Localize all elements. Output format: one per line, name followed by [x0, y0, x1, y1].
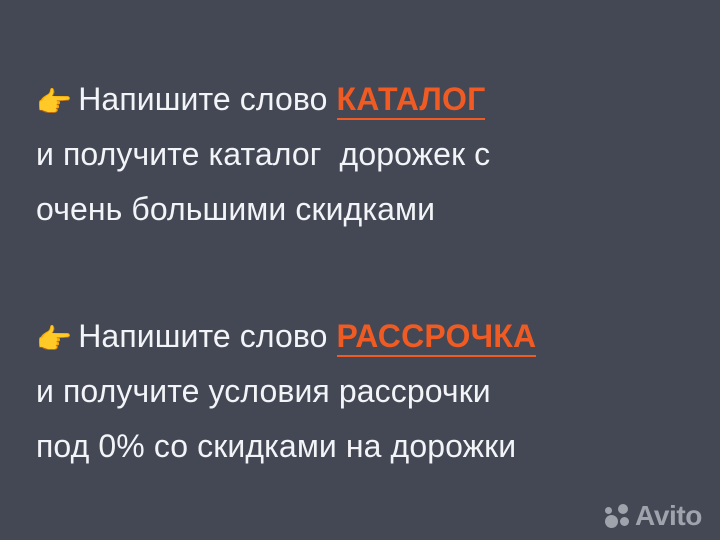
offer-line-text: Напишите слово — [78, 318, 336, 354]
promo-card: 👉Напишите слово КАТАЛОГ и получите катал… — [0, 0, 720, 540]
offer-line: 👉Напишите слово РАССРОЧКА — [36, 309, 702, 364]
offer-block-catalog: 👉Напишите слово КАТАЛОГ и получите катал… — [36, 72, 702, 237]
offer-line: и получите условия рассрочки — [36, 364, 702, 419]
offer-line: под 0% со скидками на дорожки — [36, 419, 702, 474]
pointing-right-emoji: 👉 — [36, 85, 72, 119]
keyword-installment: РАССРОЧКА — [337, 318, 537, 357]
offer-line: очень большими скидками — [36, 182, 702, 237]
avito-dots-logo-icon — [605, 504, 630, 528]
offer-line-text: Напишите слово — [78, 81, 336, 117]
avito-watermark: Avito — [605, 502, 702, 530]
keyword-catalog: КАТАЛОГ — [337, 81, 486, 120]
offer-blocks: 👉Напишите слово КАТАЛОГ и получите катал… — [36, 72, 702, 474]
offer-line: и получите каталог дорожек с — [36, 127, 702, 182]
offer-line: 👉Напишите слово КАТАЛОГ — [36, 72, 702, 127]
avito-brand-text: Avito — [635, 502, 702, 530]
offer-block-installment: 👉Напишите слово РАССРОЧКА и получите усл… — [36, 309, 702, 474]
pointing-right-emoji: 👉 — [36, 322, 72, 356]
